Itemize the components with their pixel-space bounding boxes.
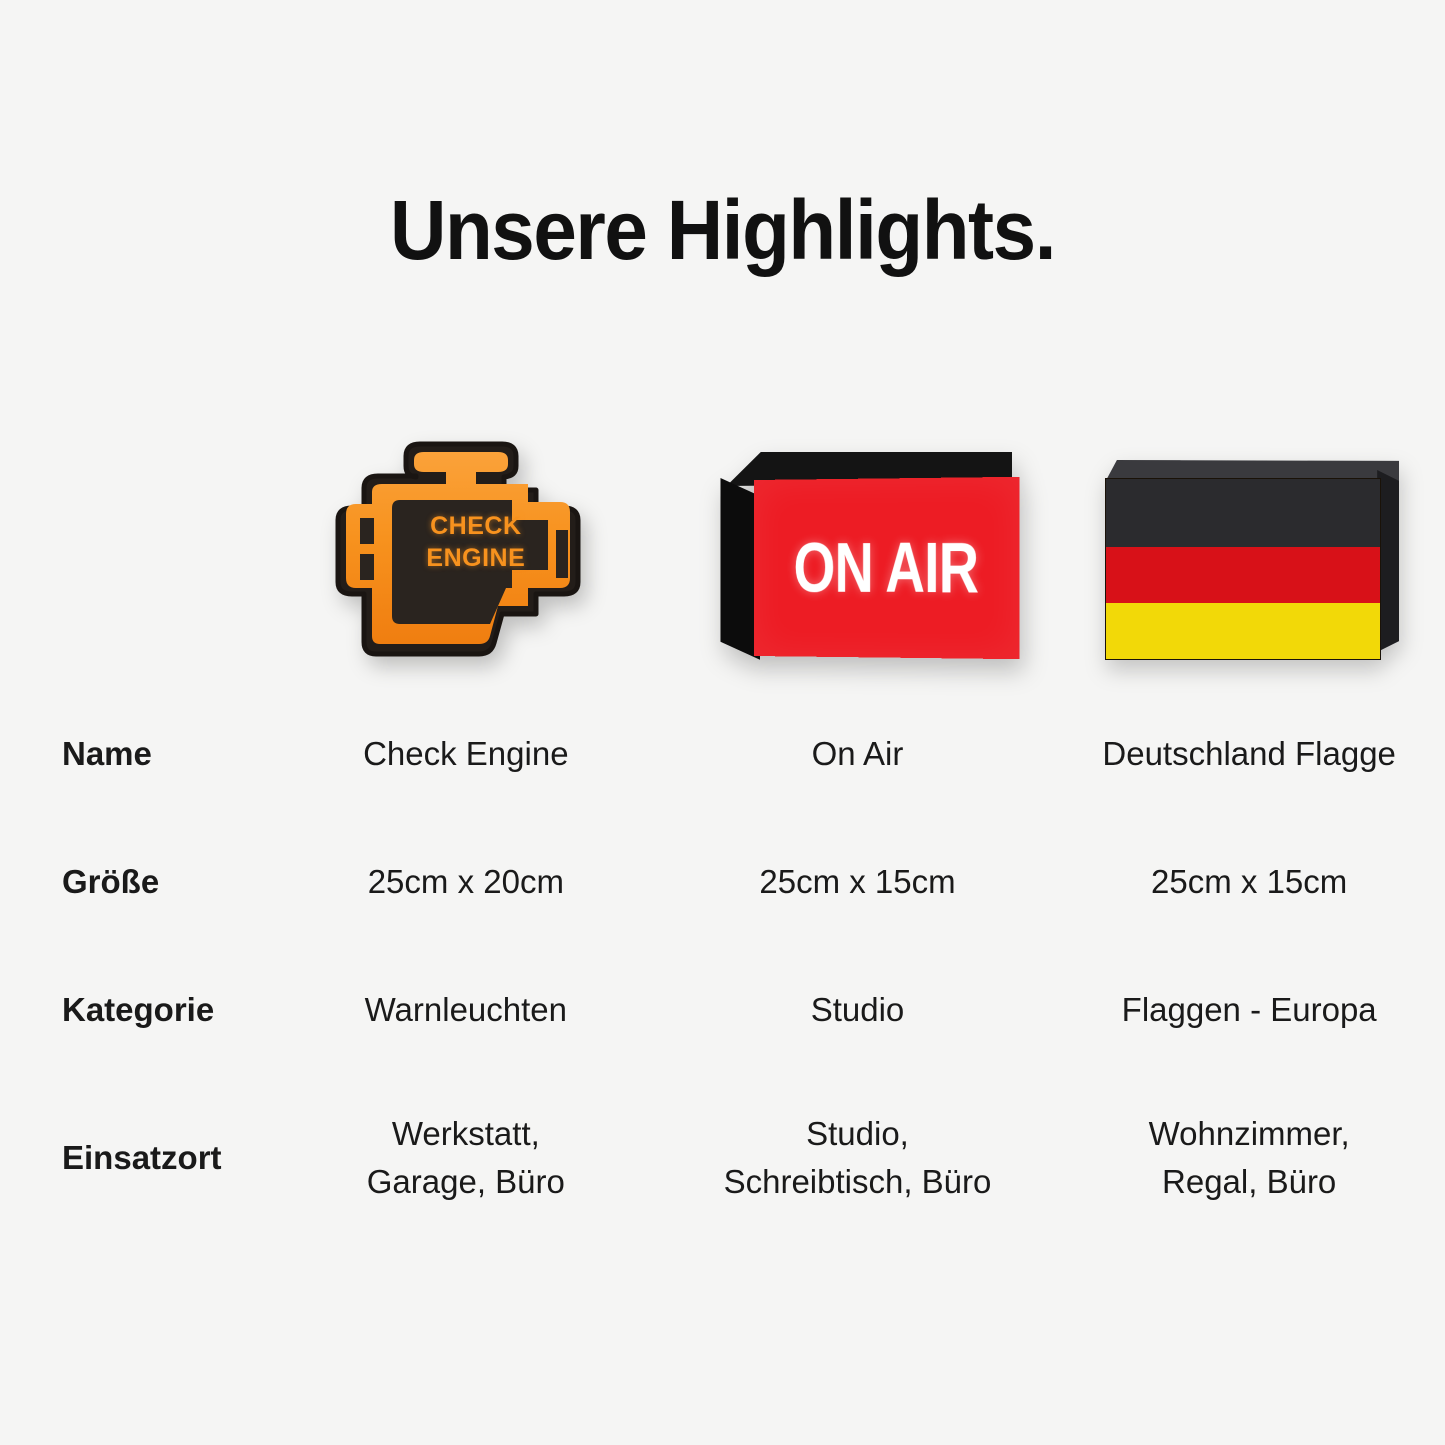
- check-engine-lamp-image: CHECKENGINE: [316, 438, 616, 660]
- spec-value-einsatzort-deutschland-flagge: Wohnzimmer, Regal, Büro: [1053, 1074, 1445, 1242]
- germany-flag-lightbox-image: [1099, 460, 1399, 660]
- spec-value-einsatzort-check-engine: Werkstatt, Garage, Büro: [270, 1074, 662, 1242]
- on-air-face: ON AIR: [754, 477, 1019, 659]
- page-title: Unsere Highlights.: [51, 186, 1395, 274]
- flag-band-black: [1106, 479, 1380, 547]
- spec-value-groesse-check-engine: 25cm x 20cm: [270, 818, 662, 946]
- product-image-on-air[interactable]: ON AIR: [662, 415, 1054, 660]
- highlights-page: Unsere Highlights.: [0, 0, 1445, 1445]
- flag-face: [1105, 478, 1381, 660]
- spec-value-groesse-deutschland-flagge: 25cm x 15cm: [1053, 818, 1445, 946]
- spec-value-kategorie-deutschland-flagge: Flaggen - Europa: [1053, 946, 1445, 1074]
- spec-label-kategorie: Kategorie: [0, 946, 270, 1074]
- spec-value-kategorie-on-air: Studio: [662, 946, 1054, 1074]
- spec-value-einsatzort-on-air: Studio, Schreibtisch, Büro: [662, 1074, 1054, 1242]
- spec-label-name: Name: [0, 690, 270, 818]
- spec-label-groesse: Größe: [0, 818, 270, 946]
- check-engine-icon: [316, 438, 616, 660]
- product-image-deutschland-flagge[interactable]: [1053, 415, 1445, 660]
- spec-value-groesse-on-air: 25cm x 15cm: [662, 818, 1054, 946]
- spec-label-column-spacer: [0, 415, 270, 660]
- on-air-label: ON AIR: [794, 527, 979, 609]
- flag-band-red: [1106, 547, 1380, 603]
- spec-value-name-on-air: On Air: [662, 690, 1054, 818]
- spec-comparison-table: Name Check Engine On Air Deutschland Fla…: [0, 690, 1445, 1242]
- spec-value-kategorie-check-engine: Warnleuchten: [270, 946, 662, 1074]
- flag-band-yellow: [1106, 603, 1380, 659]
- spec-value-name-check-engine: Check Engine: [270, 690, 662, 818]
- product-image-check-engine[interactable]: CHECKENGINE: [270, 415, 662, 660]
- product-image-row: CHECKENGINE ON AIR: [0, 415, 1445, 660]
- spec-label-einsatzort: Einsatzort: [0, 1074, 270, 1242]
- on-air-lightbox-image: ON AIR: [702, 452, 1012, 660]
- spec-value-name-deutschland-flagge: Deutschland Flagge: [1053, 690, 1445, 818]
